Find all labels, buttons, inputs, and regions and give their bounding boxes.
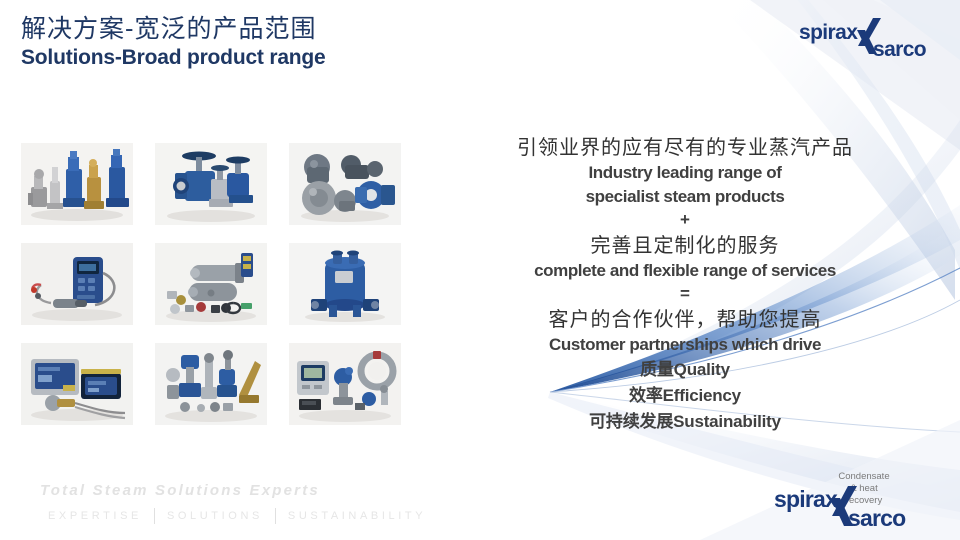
svg-text:spirax: spirax — [799, 21, 858, 44]
product-image-steam-traps — [289, 143, 401, 225]
message-line-2-en: Industry leading range of — [470, 161, 900, 185]
product-image-heat-exchangers — [155, 243, 267, 325]
product-image-control-systems — [155, 343, 267, 425]
page-title: 解决方案-宽泛的产品范围 Solutions-Broad product ran… — [21, 14, 326, 71]
spirax-sarco-logo-footer: spirax sarco — [770, 482, 920, 530]
footer-pillar-expertise: EXPERTISE — [36, 510, 154, 522]
svg-text:sarco: sarco — [848, 505, 906, 530]
message-line-4-cn: 完善且定制化的服务 — [470, 231, 900, 259]
product-image-safety-valves — [21, 143, 133, 225]
footer-tagline: Total Steam Solutions Experts — [40, 482, 320, 499]
message-line-1-cn: 引领业界的应有尽有的专业蒸汽产品 — [470, 133, 900, 161]
message-line-10-sustainability: 可持续发展Sustainability — [470, 409, 900, 435]
control-valves-photo — [155, 143, 267, 225]
steam-traps-photo — [289, 143, 401, 225]
product-image-grid — [21, 143, 401, 443]
product-image-condensate-pump — [289, 243, 401, 325]
logo-mark: spirax sarco — [795, 16, 945, 64]
message-line-9-efficiency: 效率Efficiency — [470, 383, 900, 409]
spirax-sarco-logo-header: spirax sarco — [795, 16, 945, 64]
grid-row — [21, 243, 401, 325]
safety-valves-photo — [21, 143, 133, 225]
message-line-3-en: specialist steam products — [470, 185, 900, 209]
condensate-pump-photo — [289, 243, 401, 325]
product-image-boiler-controls — [21, 343, 133, 425]
svg-text:sarco: sarco — [873, 38, 926, 61]
product-image-flow-metering — [289, 343, 401, 425]
footer-pillar-sustainability: SUSTAINABILITY — [276, 510, 438, 522]
slide-canvas: 解决方案-宽泛的产品范围 Solutions-Broad product ran… — [0, 0, 960, 540]
operator-plus: + — [470, 209, 900, 231]
boiler-controls-photo — [21, 343, 133, 425]
flow-metering-photo — [289, 343, 401, 425]
product-image-test-equipment — [21, 243, 133, 325]
operator-equals: = — [470, 283, 900, 305]
grid-row — [21, 343, 401, 425]
message-line-5-en: complete and flexible range of services — [470, 259, 900, 283]
message-block: 引领业界的应有尽有的专业蒸汽产品 Industry leading range … — [470, 133, 900, 435]
footer-pillar-solutions: SOLUTIONS — [155, 510, 275, 522]
message-line-8-quality: 质量Quality — [470, 357, 900, 383]
svg-text:spirax: spirax — [774, 486, 838, 512]
test-equipment-photo — [21, 243, 133, 325]
grid-row — [21, 143, 401, 225]
title-english: Solutions-Broad product range — [21, 45, 326, 71]
message-line-7-en: Customer partnerships which drive — [470, 333, 900, 357]
message-line-6-cn: 客户的合作伙伴，帮助您提高 — [470, 305, 900, 333]
logo-mark: spirax sarco — [770, 482, 920, 530]
title-chinese: 解决方案-宽泛的产品范围 — [21, 14, 326, 44]
footer-pillars: EXPERTISE SOLUTIONS SUSTAINABILITY — [36, 508, 438, 524]
product-image-control-valves — [155, 143, 267, 225]
heat-exchangers-photo — [155, 243, 267, 325]
control-systems-photo — [155, 343, 267, 425]
